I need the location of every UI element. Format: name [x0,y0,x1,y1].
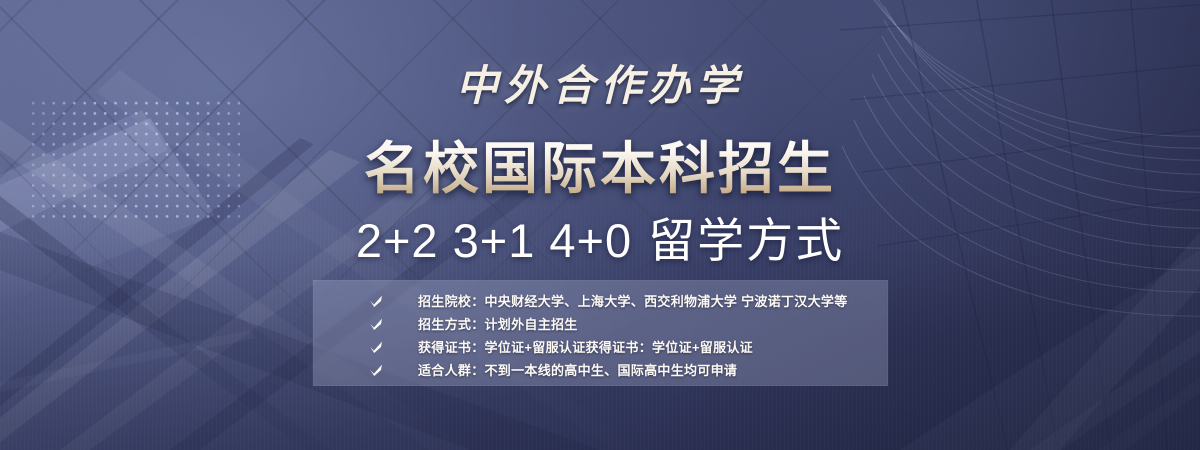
subtitle-suffix: 留学方式 [648,214,844,267]
list-item-text: 招生院校：中央财经大学、上海大学、西交利物浦大学 宁波诺丁汉大学等 [418,291,848,310]
check-icon [368,339,384,355]
list-item: 招生院校：中央财经大学、上海大学、西交利物浦大学 宁波诺丁汉大学等 [313,289,888,312]
list-item: 适合人群：不到一本线的高中生、国际高中生均可申请 [313,358,888,381]
list-item: 招生方式：计划外自主招生 [313,312,888,335]
list-item-text: 招生方式：计划外自主招生 [418,314,578,333]
check-icon [368,316,384,332]
feature-list: 招生院校：中央财经大学、上海大学、西交利物浦大学 宁波诺丁汉大学等 招生方式：计… [313,280,888,381]
promo-banner: 中外合作办学 名校国际本科招生 2+2 3+1 4+0留学方式 招生院校：中央财… [0,0,1200,450]
check-icon [368,293,384,309]
list-item-text: 获得证书：学位证+留服认证获得证书：学位证+留服认证 [418,337,753,356]
feature-panel: 招生院校：中央财经大学、上海大学、西交利物浦大学 宁波诺丁汉大学等 招生方式：计… [313,280,888,386]
list-item: 获得证书：学位证+留服认证获得证书：学位证+留服认证 [313,335,888,358]
check-icon [368,362,384,378]
subtitle: 2+2 3+1 4+0留学方式 [0,202,1200,271]
brush-script-heading: 中外合作办学 [0,52,1200,113]
subtitle-modes: 2+2 3+1 4+0 [356,214,632,267]
list-item-text: 适合人群：不到一本线的高中生、国际高中生均可申请 [418,360,737,379]
page-title: 名校国际本科招生 [0,124,1200,205]
